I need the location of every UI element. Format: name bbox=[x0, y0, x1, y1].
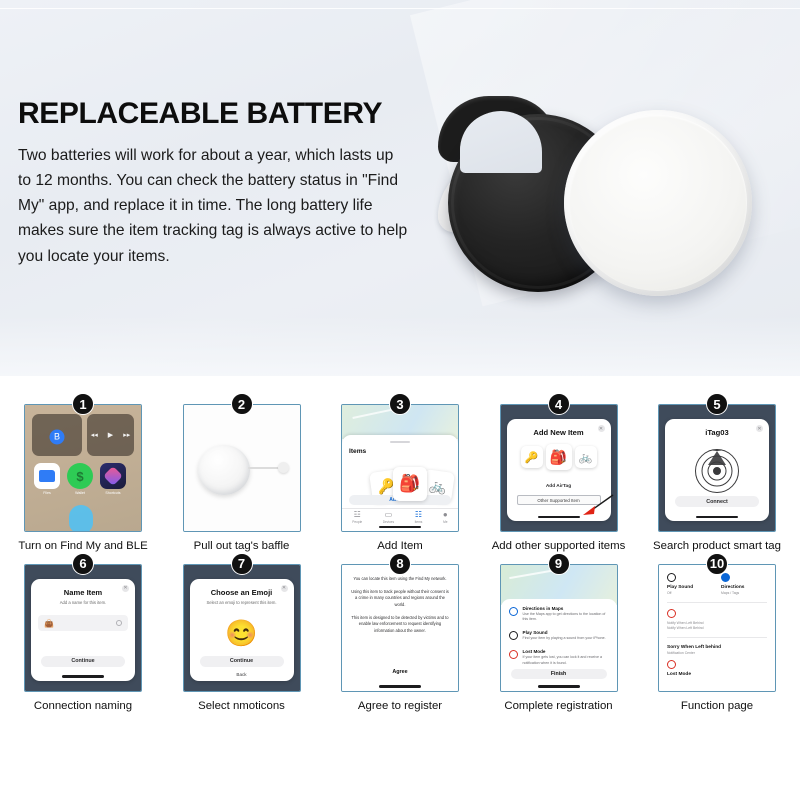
product-photo bbox=[438, 96, 798, 316]
close-icon[interactable]: ✕ bbox=[598, 425, 605, 432]
play-sound-icon[interactable] bbox=[667, 573, 676, 582]
directions-icon bbox=[509, 607, 518, 616]
step-7: 7 ✕ Choose an Emoji Select an emoji to r… bbox=[165, 564, 319, 714]
step-8: 8 You can locate this item using the Fin… bbox=[323, 564, 477, 714]
people-icon[interactable]: ☳ bbox=[354, 511, 361, 519]
divider bbox=[667, 637, 767, 638]
directions-title: Directions in Maps bbox=[523, 606, 609, 611]
function-page-screen: Play Sound Off Directions Maps / Tags bbox=[659, 565, 775, 691]
product-infographic-page: REPLACEABLE BATTERY Two batteries will w… bbox=[0, 0, 800, 800]
step-8-caption: Agree to register bbox=[325, 699, 475, 714]
modal-subtitle: Add a name for this item. bbox=[38, 600, 128, 606]
shortcuts-icon[interactable] bbox=[100, 463, 126, 489]
play-sound-text: Play Sound Find your item by playing a s… bbox=[523, 630, 606, 642]
home-indicator bbox=[538, 516, 580, 518]
baffle-pull-photo bbox=[184, 405, 300, 531]
step-2-shot-wrap: 2 bbox=[183, 404, 301, 532]
home-indicator bbox=[379, 685, 421, 687]
step-number-badge: 4 bbox=[548, 393, 570, 415]
selected-emoji-icon[interactable]: 👜 bbox=[44, 619, 54, 628]
agree-button[interactable]: Agree bbox=[342, 669, 458, 675]
media-player-card[interactable]: ◂◂ ▶ ▸▸ bbox=[87, 414, 134, 456]
step-3-caption: Add Item bbox=[325, 539, 475, 554]
lost-mode-desc: If your item gets lost, you can lock it … bbox=[523, 655, 609, 666]
clear-icon[interactable] bbox=[116, 620, 122, 626]
step-1: 1 B ◂◂ ▶ ▸▸ bbox=[6, 404, 160, 554]
directions-title: Directions bbox=[721, 585, 767, 590]
directions-sub: Maps / Tags bbox=[721, 591, 767, 595]
lost-mode-section[interactable]: Lost Mode bbox=[667, 660, 767, 677]
feature-row-lost-mode: Lost Mode If your item gets lost, you ca… bbox=[509, 649, 609, 666]
play-sound-sub: Off bbox=[667, 591, 713, 595]
modal-title: Name Item bbox=[38, 588, 128, 597]
step-number-badge: 3 bbox=[389, 393, 411, 415]
registration-summary-sheet: Directions in Maps Use the Maps app to g… bbox=[501, 599, 617, 691]
sorry-sub: Notification Center bbox=[667, 651, 767, 655]
app-shortcuts-label: Shortcuts bbox=[100, 491, 126, 495]
tab-pull-knob bbox=[278, 462, 289, 473]
step-9-shot-wrap: 9 Directions in Maps Use the Maps app to… bbox=[500, 564, 618, 692]
step-5-screenshot: ✕ iTag03 Connect bbox=[658, 404, 776, 532]
notify-icon[interactable] bbox=[667, 609, 676, 618]
play-sound-title: Play Sound bbox=[667, 585, 713, 590]
action-play-sound[interactable]: Play Sound Off bbox=[667, 573, 713, 595]
modal-title: Choose an Emoji bbox=[197, 588, 287, 597]
notify-section[interactable]: Notify When Left Behind Notify When Left… bbox=[667, 609, 767, 630]
directions-icon[interactable] bbox=[721, 573, 730, 582]
connect-tag-modal: ✕ iTag03 Connect bbox=[665, 419, 769, 521]
lost-mode-title: Lost Mode bbox=[523, 649, 609, 654]
key-icon: 🔑 bbox=[521, 446, 543, 468]
setup-steps-section: 1 B ◂◂ ▶ ▸▸ bbox=[0, 376, 800, 800]
play-sound-desc: Find your item by playing a sound from y… bbox=[523, 636, 606, 641]
tag-name-title: iTag03 bbox=[672, 428, 762, 437]
action-directions[interactable]: Directions Maps / Tags bbox=[721, 573, 767, 595]
step-9: 9 Directions in Maps Use the Maps app to… bbox=[482, 564, 636, 714]
lost-mode-icon bbox=[509, 650, 518, 659]
add-airtag-label[interactable]: Add AirTag bbox=[514, 484, 604, 489]
step-2-screenshot bbox=[183, 404, 301, 532]
tab-me[interactable]: ● Me bbox=[443, 511, 448, 524]
tab-people-label: People bbox=[352, 520, 362, 524]
previous-icon[interactable]: ◂◂ bbox=[91, 431, 98, 439]
directions-desc: Use the Maps app to get directions to th… bbox=[523, 612, 609, 623]
step-10-shot-wrap: 10 Play Sound Off bbox=[658, 564, 776, 692]
tab-people[interactable]: ☳ People bbox=[352, 511, 362, 524]
app-icon-row: Files Wallet Shortcuts bbox=[32, 463, 134, 495]
bluetooth-icon[interactable]: B bbox=[50, 429, 65, 444]
step-5: 5 ✕ iTag03 bbox=[640, 404, 794, 554]
steps-row-bottom: 6 ✕ Name Item Add a name for this item. … bbox=[0, 564, 800, 714]
back-link[interactable]: Back bbox=[190, 672, 294, 677]
modal-title: Add New Item bbox=[514, 428, 604, 437]
step-6-screenshot: ✕ Name Item Add a name for this item. 👜 … bbox=[24, 564, 142, 692]
step-2-caption: Pull out tag's baffle bbox=[167, 539, 317, 554]
choose-emoji-modal: ✕ Choose an Emoji Select an emoji to rep… bbox=[190, 579, 294, 681]
close-icon[interactable]: ✕ bbox=[281, 585, 288, 592]
disclosure-paragraph-1: You can locate this item using the Find … bbox=[351, 576, 449, 582]
home-indicator bbox=[62, 675, 104, 677]
media-controls[interactable]: ◂◂ ▶ ▸▸ bbox=[87, 431, 134, 439]
notify-title: Notify When Left Behind bbox=[667, 621, 767, 625]
app-files[interactable]: Files bbox=[34, 463, 60, 495]
hero-text-block: REPLACEABLE BATTERY Two batteries will w… bbox=[18, 98, 418, 269]
disclosure-paragraph-2: Using this item to track people without … bbox=[351, 589, 449, 608]
play-sound-icon bbox=[509, 631, 518, 640]
step-3: 3 Items 🔑 🎒 🚲 Add Item bbox=[323, 404, 477, 554]
app-files-label: Files bbox=[34, 491, 60, 495]
step-10: 10 Play Sound Off bbox=[640, 564, 794, 714]
steps-row-top: 1 B ◂◂ ▶ ▸▸ bbox=[0, 404, 800, 554]
step-4-caption: Add other supported items bbox=[484, 539, 634, 554]
item-cards: 🔑 🎒 🚲 bbox=[514, 446, 604, 470]
modal-subtitle: Select an emoji to represent this item. bbox=[197, 600, 287, 606]
tab-devices[interactable]: ▭ Devices bbox=[383, 511, 394, 524]
step-10-caption: Function page bbox=[642, 699, 792, 714]
profile-icon[interactable]: ● bbox=[443, 511, 448, 519]
privacy-disclosure-screen: You can locate this item using the Find … bbox=[342, 565, 458, 691]
tab-devices-label: Devices bbox=[383, 520, 394, 524]
control-center-screen: B ◂◂ ▶ ▸▸ bbox=[25, 405, 141, 531]
step-4: 4 ✕ Add New Item 🔑 🎒 🚲 Add AirTag bbox=[482, 404, 636, 554]
step-8-screenshot: You can locate this item using the Find … bbox=[341, 564, 459, 692]
step-9-caption: Complete registration bbox=[484, 699, 634, 714]
home-indicator bbox=[696, 516, 738, 518]
step-number-badge: 8 bbox=[389, 553, 411, 575]
continue-button[interactable]: Continue bbox=[41, 656, 125, 667]
backpack-icon: 🎒 bbox=[393, 467, 427, 501]
step-4-shot-wrap: 4 ✕ Add New Item 🔑 🎒 🚲 Add AirTag bbox=[500, 404, 618, 532]
step-number-badge: 10 bbox=[706, 553, 728, 575]
step-3-shot-wrap: 3 Items 🔑 🎒 🚲 Add Item bbox=[341, 404, 459, 532]
step-1-screenshot: B ◂◂ ▶ ▸▸ bbox=[24, 404, 142, 532]
home-indicator bbox=[379, 526, 421, 528]
sheet-grabber[interactable] bbox=[390, 441, 410, 443]
hero-panel: REPLACEABLE BATTERY Two batteries will w… bbox=[0, 0, 800, 376]
lost-mode-text: Lost Mode If your item gets lost, you ca… bbox=[523, 649, 609, 666]
home-indicator bbox=[538, 685, 580, 687]
step-6-shot-wrap: 6 ✕ Name Item Add a name for this item. … bbox=[24, 564, 142, 692]
step-7-shot-wrap: 7 ✕ Choose an Emoji Select an emoji to r… bbox=[183, 564, 301, 692]
radar-center-dot bbox=[713, 467, 721, 475]
step-5-caption: Search product smart tag bbox=[642, 539, 792, 554]
step-1-caption: Turn on Find My and BLE bbox=[8, 539, 158, 554]
step-number-badge: 5 bbox=[706, 393, 728, 415]
step-6-caption: Connection naming bbox=[8, 699, 158, 714]
items-icon[interactable]: ☷ bbox=[415, 511, 422, 519]
quick-actions: Play Sound Off Directions Maps / Tags bbox=[667, 573, 767, 595]
directions-text: Directions in Maps Use the Maps app to g… bbox=[523, 606, 609, 623]
step-7-caption: Select nmoticons bbox=[167, 699, 317, 714]
step-4-screenshot: ✕ Add New Item 🔑 🎒 🚲 Add AirTag Other Su… bbox=[500, 404, 618, 532]
step-8-shot-wrap: 8 You can locate this item using the Fin… bbox=[341, 564, 459, 692]
lost-mode-icon[interactable] bbox=[667, 660, 676, 669]
white-tracker-tag bbox=[564, 110, 752, 296]
next-icon[interactable]: ▸▸ bbox=[123, 431, 130, 439]
bike-icon: 🚲 bbox=[575, 446, 597, 468]
step-6: 6 ✕ Name Item Add a name for this item. … bbox=[6, 564, 160, 714]
hero-description: Two batteries will work for about a year… bbox=[18, 143, 410, 269]
tab-items-label: Items bbox=[415, 520, 423, 524]
emoji-preview-icon[interactable]: 😊 bbox=[197, 618, 287, 649]
connect-button[interactable]: Connect bbox=[675, 496, 759, 507]
red-pointer-arrow bbox=[575, 493, 615, 519]
step-number-badge: 9 bbox=[548, 553, 570, 575]
radar-scan-icon bbox=[694, 448, 740, 494]
white-tag-photo bbox=[198, 445, 250, 495]
feature-row-play-sound: Play Sound Find your item by playing a s… bbox=[509, 630, 609, 642]
backpack-icon: 🎒 bbox=[546, 444, 572, 470]
finger-tap-indicator bbox=[69, 505, 93, 532]
name-item-modal: ✕ Name Item Add a name for this item. 👜 … bbox=[31, 579, 135, 681]
app-wallet-label: Wallet bbox=[67, 491, 93, 495]
step-7-screenshot: ✕ Choose an Emoji Select an emoji to rep… bbox=[183, 564, 301, 692]
divider bbox=[667, 602, 767, 603]
tab-bar: ☳ People ▭ Devices ☷ Items bbox=[342, 508, 458, 525]
notify-desc: Notify When Left Behind bbox=[667, 626, 767, 630]
disclosure-paragraph-3: This item is designed to be detected by … bbox=[351, 615, 449, 634]
step-5-shot-wrap: 5 ✕ iTag03 bbox=[658, 404, 776, 532]
step-number-badge: 7 bbox=[231, 553, 253, 575]
step-number-badge: 2 bbox=[231, 393, 253, 415]
sorry-section: Sorry When Left behind Notification Cent… bbox=[667, 645, 767, 655]
step-number-badge: 1 bbox=[72, 393, 94, 415]
control-center-top-row: B ◂◂ ▶ ▸▸ bbox=[32, 414, 134, 456]
continue-button[interactable]: Continue bbox=[200, 656, 284, 667]
tab-me-label: Me bbox=[443, 520, 447, 524]
step-10-screenshot: Play Sound Off Directions Maps / Tags bbox=[658, 564, 776, 692]
tab-items[interactable]: ☷ Items bbox=[415, 511, 423, 524]
files-icon[interactable] bbox=[34, 463, 60, 489]
play-icon[interactable]: ▶ bbox=[108, 431, 113, 439]
items-sheet: Items 🔑 🎒 🚲 Add Item ☳ People bbox=[342, 435, 458, 531]
finish-button[interactable]: Finish bbox=[511, 669, 607, 679]
app-shortcuts[interactable]: Shortcuts bbox=[100, 463, 126, 495]
step-2: 2 Pull out tag's baffle bbox=[165, 404, 319, 554]
feature-row-directions: Directions in Maps Use the Maps app to g… bbox=[509, 606, 609, 623]
page-title: REPLACEABLE BATTERY bbox=[18, 98, 418, 130]
radar-beam bbox=[708, 450, 726, 465]
battery-insulation-tab bbox=[248, 467, 282, 469]
wallet-icon[interactable] bbox=[67, 463, 93, 489]
app-wallet[interactable]: Wallet bbox=[67, 463, 93, 495]
close-icon[interactable]: ✕ bbox=[756, 425, 763, 432]
hero-bottom-fade bbox=[0, 316, 800, 376]
step-number-badge: 6 bbox=[72, 553, 94, 575]
items-title: Items bbox=[349, 448, 451, 455]
connectivity-card[interactable]: B bbox=[32, 414, 82, 456]
step-3-screenshot: Items 🔑 🎒 🚲 Add Item ☳ People bbox=[341, 404, 459, 532]
play-sound-title: Play Sound bbox=[523, 630, 606, 635]
white-tag-rim bbox=[569, 115, 747, 291]
lost-mode-title: Lost Mode bbox=[667, 672, 767, 677]
close-icon[interactable]: ✕ bbox=[122, 585, 129, 592]
sorry-title: Sorry When Left behind bbox=[667, 645, 767, 650]
step-9-screenshot: Directions in Maps Use the Maps app to g… bbox=[500, 564, 618, 692]
step-1-shot-wrap: 1 B ◂◂ ▶ ▸▸ bbox=[24, 404, 142, 532]
devices-icon[interactable]: ▭ bbox=[385, 511, 393, 519]
item-name-input[interactable]: 👜 bbox=[38, 615, 128, 631]
